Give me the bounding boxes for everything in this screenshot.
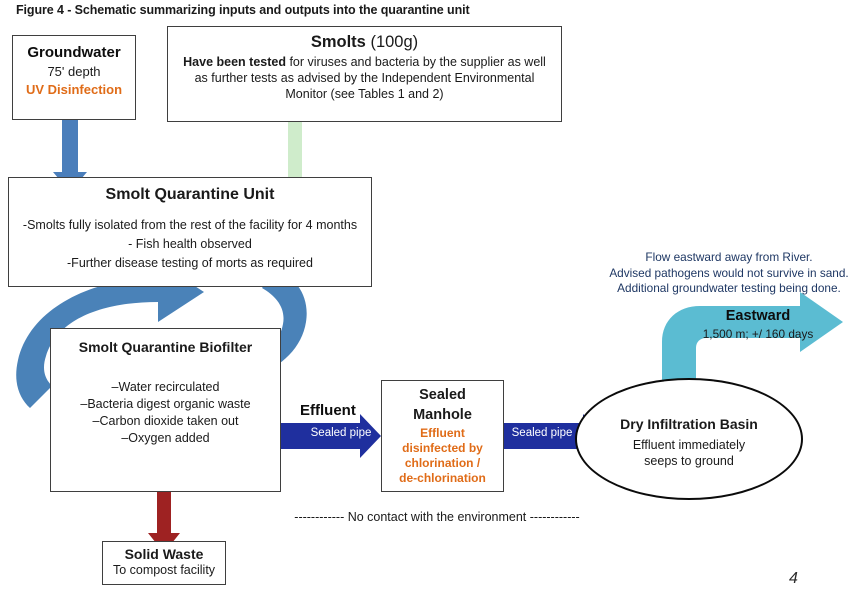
groundwater-flow-note: Flow eastward away from River. Advised p… [598, 250, 860, 297]
flow-note-line-2: Advised pathogens would not survive in s… [598, 266, 860, 282]
biofilter-line-3: –Carbon dioxide taken out [51, 413, 280, 430]
smolt-quarantine-unit-box: Smolt Quarantine Unit -Smolts fully isol… [8, 177, 372, 287]
quarantine-unit-line-2: - Fish health observed [9, 235, 371, 254]
biofilter-line-4: –Oxygen added [51, 430, 280, 447]
eastward-label: Eastward [698, 308, 818, 324]
solid-waste-box: Solid Waste To compost facility [102, 541, 226, 585]
page-number: 4 [789, 570, 798, 588]
biofilter-line-1: –Water recirculated [51, 379, 280, 396]
dry-infiltration-basin-title: Dry Infiltration Basin [577, 416, 801, 432]
dry-infiltration-basin-body: Effluent immediately seeps to ground [577, 437, 801, 469]
quarantine-unit-body: -Smolts fully isolated from the rest of … [9, 216, 371, 273]
figure-caption: Figure 4 - Schematic summarizing inputs … [16, 3, 470, 17]
smolts-body-bold: Have been tested [183, 55, 286, 69]
sealed-manhole-sub-line-1: Effluent [382, 426, 503, 441]
quarantine-unit-line-3: -Further disease testing of morts as req… [9, 254, 371, 273]
sealed-manhole-title-line-1: Sealed [382, 385, 503, 405]
biofilter-line-2: –Bacteria digest organic waste [51, 396, 280, 413]
basin-line-1: Effluent immediately [577, 437, 801, 453]
sealed-manhole-title: Sealed Manhole [382, 385, 503, 425]
groundwater-box: Groundwater 75' depth UV Disinfection [12, 35, 136, 120]
sealed-manhole-sub-line-2: disinfected by [382, 441, 503, 456]
quarantine-unit-title: Smolt Quarantine Unit [9, 186, 371, 204]
solid-waste-destination: To compost facility [103, 563, 225, 577]
sealed-manhole-sub-line-3: chlorination / [382, 456, 503, 471]
smolts-box: Smolts (100g) Have been tested for virus… [167, 26, 562, 122]
sealed-pipe-label-2: Sealed pipe [503, 428, 581, 440]
smolts-title-weight: (100g) [366, 33, 418, 51]
smolts-body: Have been tested for viruses and bacteri… [168, 54, 561, 102]
flow-note-line-1: Flow eastward away from River. [598, 250, 860, 266]
solid-waste-title: Solid Waste [103, 546, 225, 562]
smolt-quarantine-biofilter-box: Smolt Quarantine Biofilter –Water recirc… [50, 328, 281, 492]
dry-infiltration-basin-ellipse: Dry Infiltration Basin Effluent immediat… [575, 378, 803, 500]
smolts-title-bold: Smolts [311, 33, 366, 51]
no-contact-with-environment-note: ------------ No contact with the environ… [287, 510, 587, 524]
basin-line-2: seeps to ground [577, 453, 801, 469]
sealed-manhole-title-line-2: Manhole [382, 405, 503, 425]
sealed-pipe-label-1: Sealed pipe [302, 428, 380, 440]
groundwater-depth: 75' depth [13, 64, 135, 79]
flow-note-line-3: Additional groundwater testing being don… [598, 281, 860, 297]
smolts-title: Smolts (100g) [168, 33, 561, 52]
biofilter-body: –Water recirculated –Bacteria digest org… [51, 379, 280, 447]
eastward-distance-label: 1,500 m; +/ 160 days [688, 327, 828, 341]
sealed-manhole-box: Sealed Manhole Effluent disinfected by c… [381, 380, 504, 492]
groundwater-title: Groundwater [13, 44, 135, 61]
sealed-manhole-process: Effluent disinfected by chlorination / d… [382, 426, 503, 486]
biofilter-title: Smolt Quarantine Biofilter [51, 339, 280, 355]
groundwater-uv-disinfection: UV Disinfection [13, 82, 135, 97]
quarantine-unit-line-1: -Smolts fully isolated from the rest of … [9, 216, 371, 235]
effluent-label: Effluent [300, 402, 356, 419]
figure-canvas: Figure 4 - Schematic summarizing inputs … [0, 0, 863, 589]
sealed-manhole-sub-line-4: de-chlorination [382, 471, 503, 486]
